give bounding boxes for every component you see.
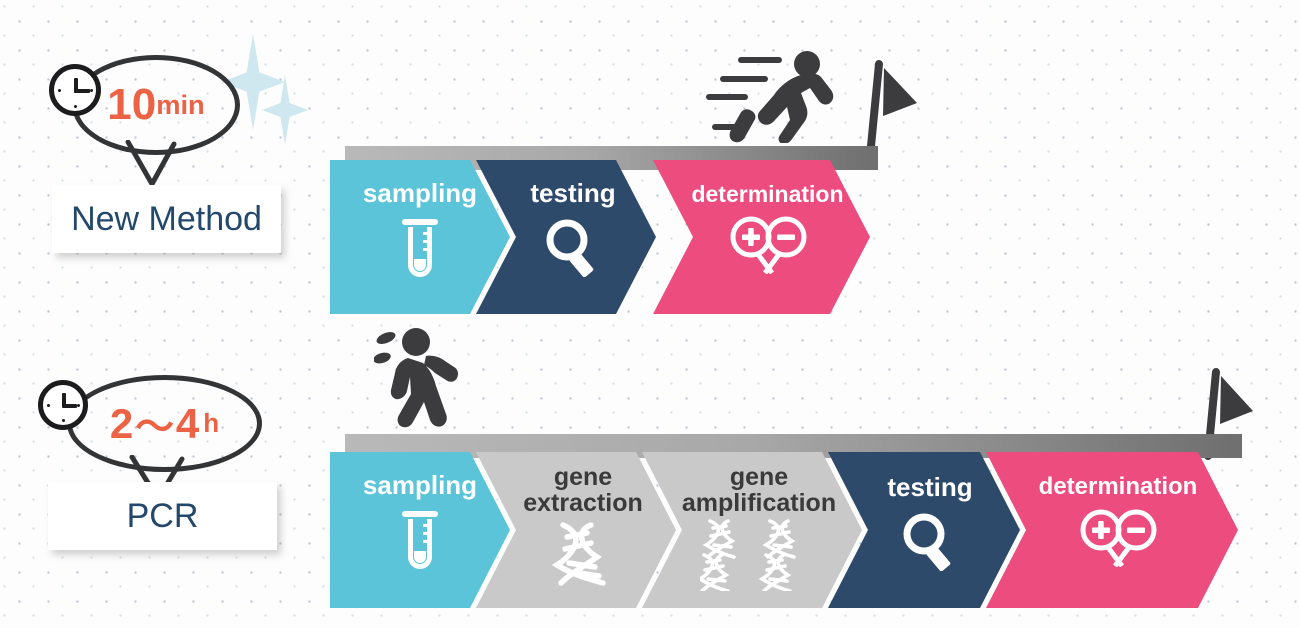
- time-value-start: 2: [110, 400, 133, 448]
- clock-icon-pcr: [38, 380, 88, 430]
- clock-icon-new-method: [49, 64, 101, 116]
- method-label-text: PCR: [127, 497, 199, 536]
- step-label: determination: [1039, 474, 1198, 499]
- method-label-text: New Method: [71, 200, 262, 239]
- time-unit: min: [156, 89, 204, 121]
- running-person-icon: [706, 48, 846, 143]
- step-label: testing: [887, 474, 972, 501]
- goal-flag-icon-new-method: [862, 60, 920, 150]
- test-tube-icon: [398, 219, 442, 281]
- workflow-step-testing[interactable]: testing: [476, 160, 656, 314]
- method-label-card-new-method: New Method: [52, 185, 281, 253]
- step-label: gene extraction: [523, 464, 642, 517]
- method-label-card-pcr: PCR: [48, 482, 277, 550]
- test-tube-icon: [398, 511, 442, 573]
- magnifier-icon: [545, 217, 601, 277]
- bubble-tail-new-method: [122, 140, 182, 186]
- dna-multiple-icon: [700, 519, 818, 591]
- time-range-separator: 〜: [133, 396, 176, 452]
- step-label: testing: [530, 180, 615, 207]
- step-label: sampling: [363, 472, 477, 499]
- time-value: 10: [107, 80, 156, 130]
- workflow-row-pcr: sampling: [330, 452, 1238, 608]
- plus-minus-icon: [1079, 509, 1157, 567]
- dna-single-icon: [547, 521, 619, 587]
- walking-person-icon: [374, 322, 460, 434]
- infographic-canvas: 10min New Method: [0, 0, 1300, 628]
- workflow-step-determination[interactable]: determination: [986, 452, 1238, 608]
- step-label: gene amplification: [682, 464, 836, 517]
- time-unit: h: [203, 408, 219, 439]
- workflow-row-new-method: sampling: [330, 160, 870, 314]
- workflow-step-determination[interactable]: determination: [653, 160, 870, 314]
- time-value-end: 4: [176, 400, 199, 448]
- step-label: sampling: [363, 180, 477, 207]
- plus-minus-icon: [729, 216, 807, 274]
- step-label: determination: [691, 182, 843, 206]
- magnifier-icon: [902, 511, 958, 571]
